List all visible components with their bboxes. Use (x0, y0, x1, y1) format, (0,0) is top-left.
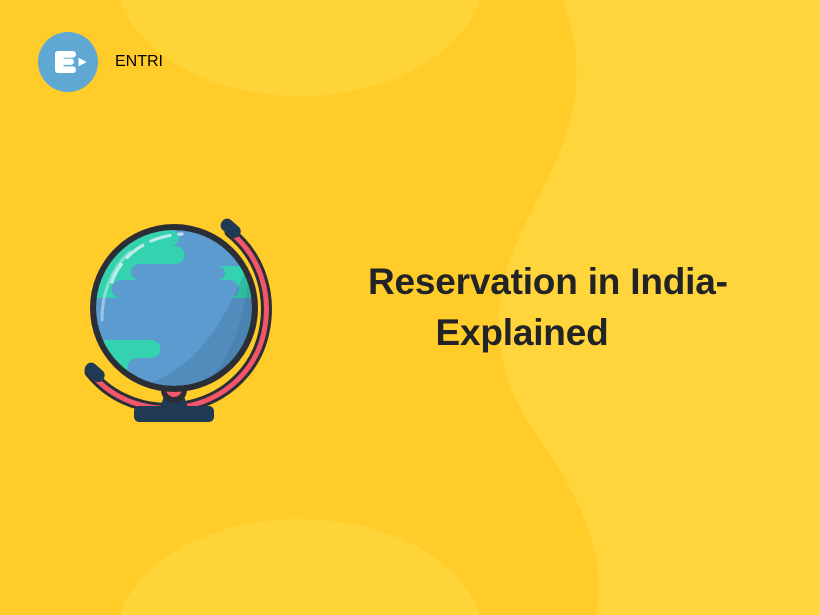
page-title: Reservation in India- Explained (368, 256, 772, 358)
page-title-line-1: Reservation in India- (368, 256, 772, 307)
entri-logo-icon (38, 32, 98, 92)
page-title-line-2: Explained (272, 307, 772, 358)
entri-e-play-glyph (38, 32, 98, 92)
banner-card: ENTRI (0, 0, 820, 615)
brand-name: ENTRI (115, 53, 163, 71)
brand-lockup: ENTRI (38, 32, 163, 92)
globe-on-stand-icon (78, 208, 288, 428)
background-arc-top (120, 0, 480, 96)
background-arc-bottom (120, 519, 480, 615)
